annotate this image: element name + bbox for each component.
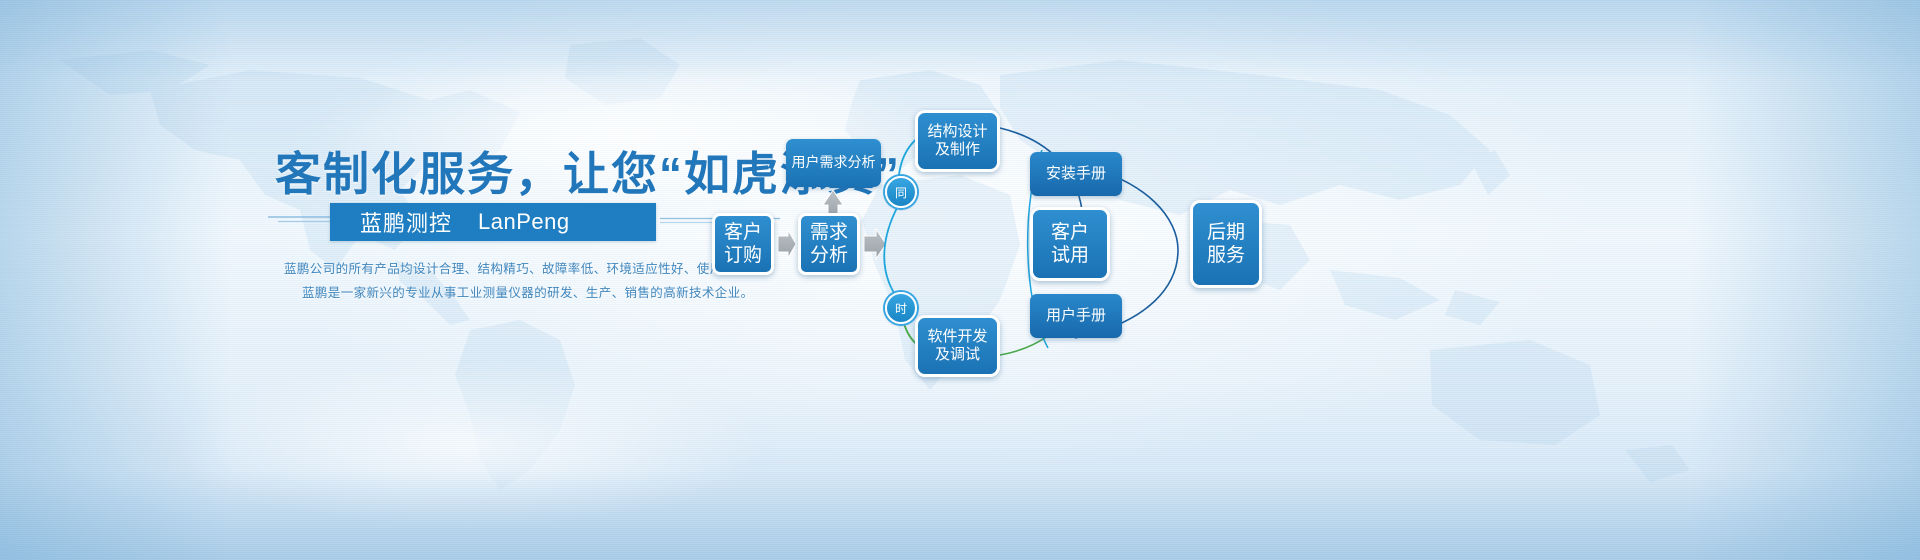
flow-node-analyze[interactable]: 需求 分析 <box>798 213 860 275</box>
arc-tong-to-shi <box>884 206 898 296</box>
flow-node-installation-manual[interactable]: 安装手册 <box>1030 152 1122 196</box>
flow-node-user-req[interactable]: 用户需求分析 <box>786 139 881 187</box>
flow-node-structure-design[interactable]: 结构设计 及制作 <box>915 110 1000 172</box>
badge-tong: 同 <box>885 176 917 208</box>
flow-node-customer-trial[interactable]: 客户 试用 <box>1030 207 1110 281</box>
flow-node-order[interactable]: 客户 订购 <box>712 213 774 275</box>
flow-node-after-service[interactable]: 后期 服务 <box>1190 200 1262 288</box>
flow-node-user-manual[interactable]: 用户手册 <box>1030 294 1122 338</box>
arrow-order-to-analyze <box>778 230 796 258</box>
arrow-analyze-to-cycle <box>864 229 886 259</box>
banner-root: 客制化服务，让您“如虎添翼” 蓝鹏测控 LanPeng 蓝鹏公司的所有产品均设计… <box>0 0 1920 560</box>
flow-node-software-development[interactable]: 软件开发 及调试 <box>915 315 1000 377</box>
process-flow-diagram <box>0 0 1920 560</box>
badge-shi: 时 <box>885 292 917 324</box>
